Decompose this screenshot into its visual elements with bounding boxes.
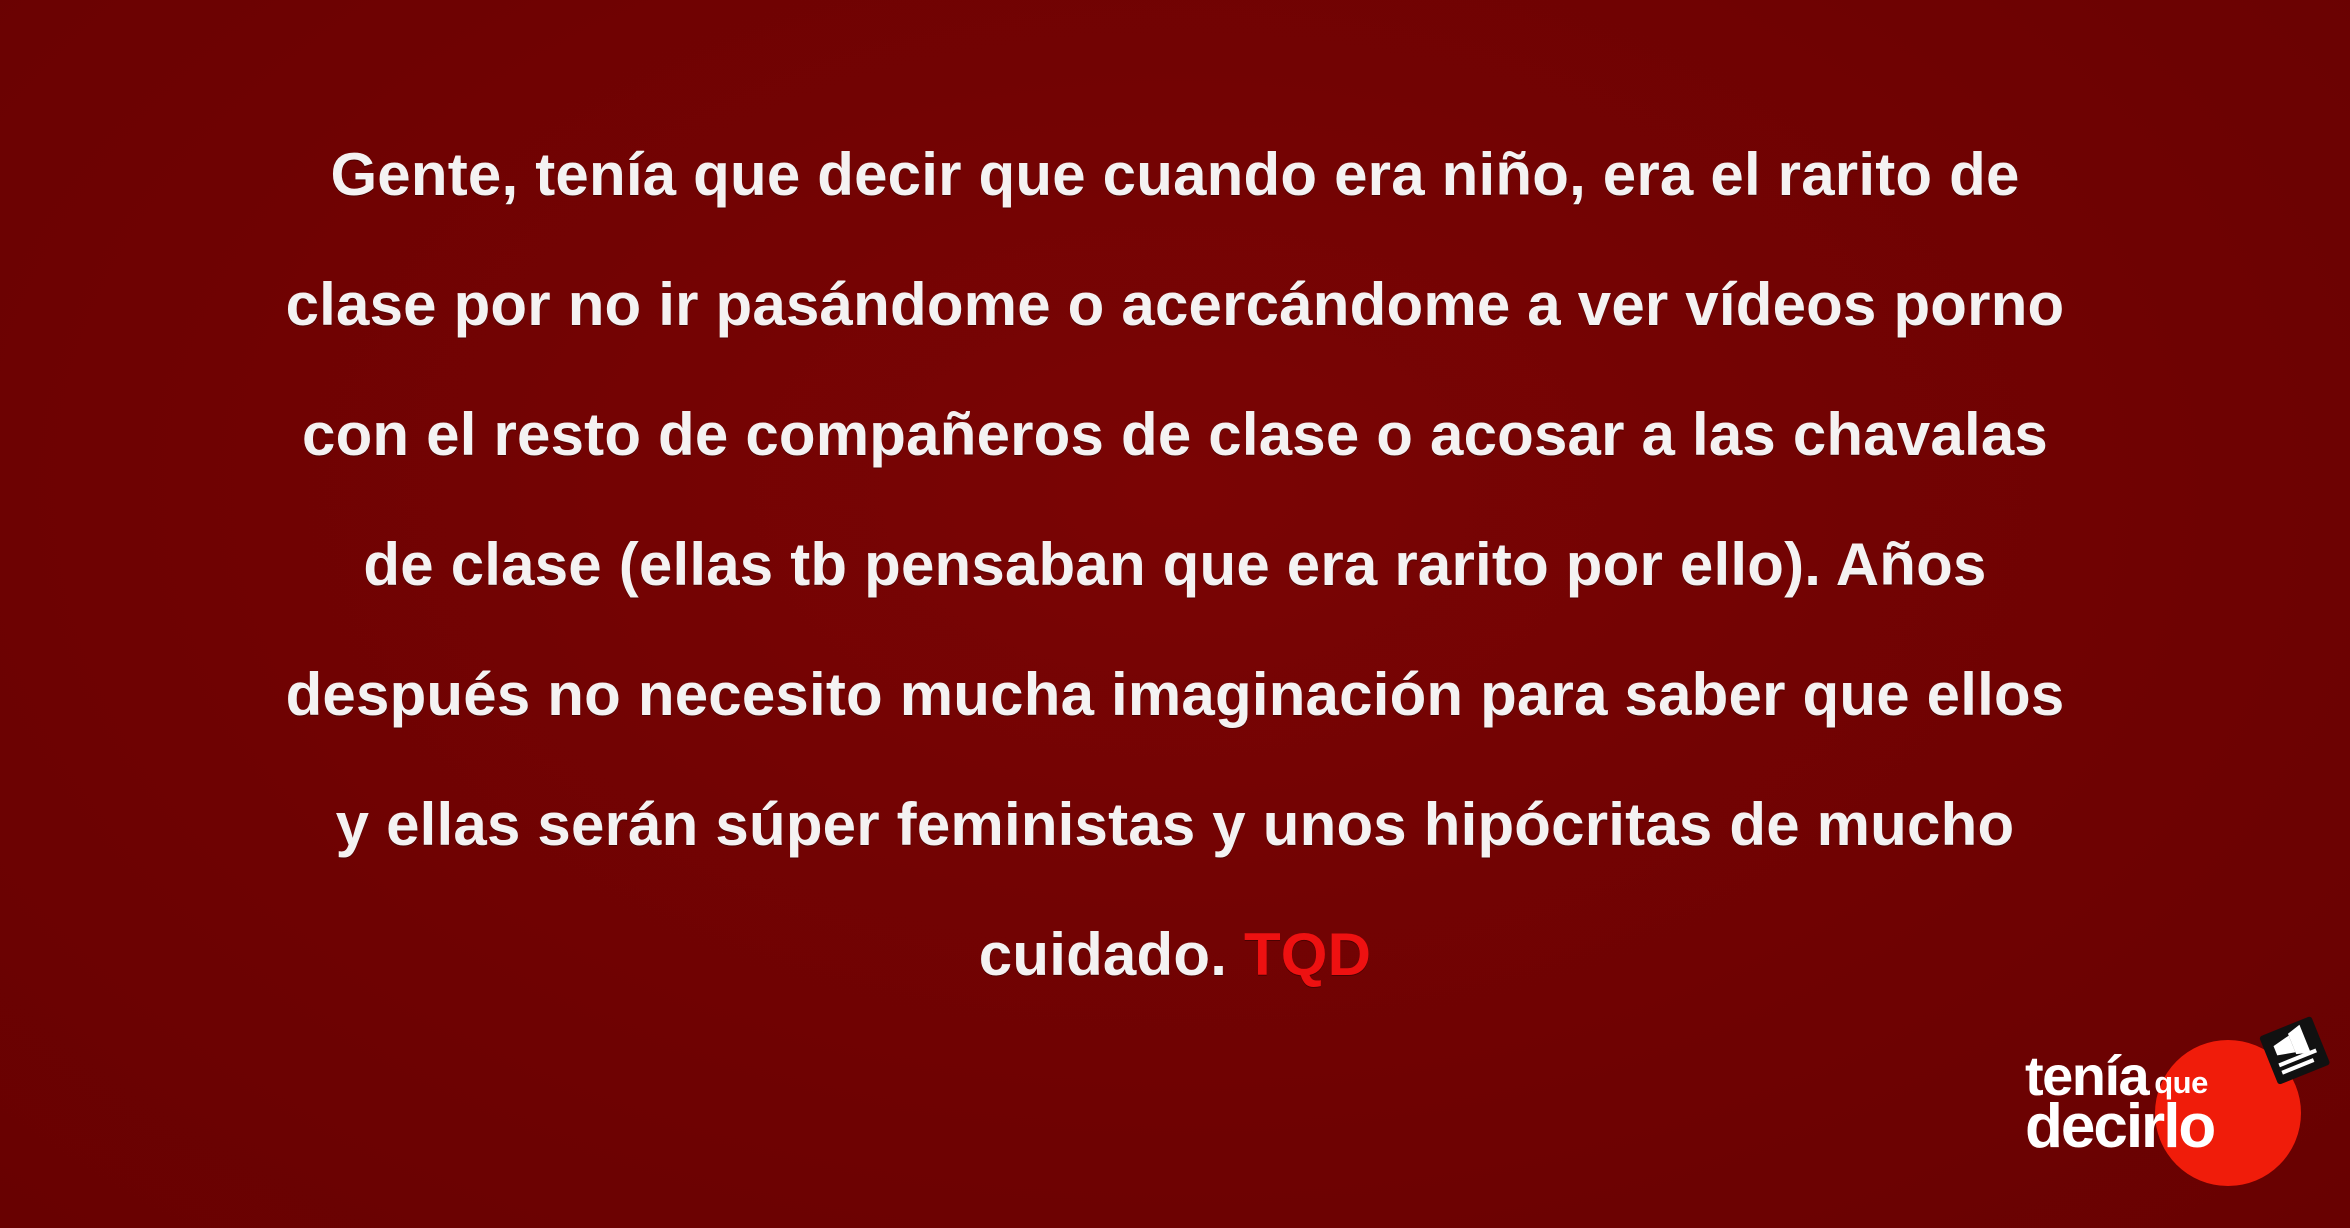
tqd-tag: TQD (1244, 921, 1371, 988)
quote-line-4: de clase (ellas tb pensaban que era rari… (150, 500, 2200, 630)
tqd-logo[interactable]: teníaque decirlo (2025, 1018, 2325, 1213)
quote-line-1: Gente, tenía que decir que cuando era ni… (150, 110, 2200, 240)
quote-line-7-text: cuidado. (979, 921, 1244, 988)
quote-line-7: cuidado. TQD (150, 890, 2200, 1020)
quote-line-2: clase por no ir pasándome o acercándome … (150, 240, 2200, 370)
quote-line-3: con el resto de compañeros de clase o ac… (150, 370, 2200, 500)
quote-line-6: y ellas serán súper feministas y unos hi… (150, 760, 2200, 890)
logo-word-que: que (2154, 1065, 2208, 1100)
tqd-quote-card: Gente, tenía que decir que cuando era ni… (0, 0, 2350, 1228)
quote-text-block: Gente, tenía que decir que cuando era ni… (150, 110, 2200, 1020)
quote-line-5: después no necesito mucha imaginación pa… (150, 630, 2200, 760)
logo-line-2: decirlo (2025, 1098, 2285, 1155)
logo-wordmark: teníaque decirlo (2025, 1050, 2285, 1155)
